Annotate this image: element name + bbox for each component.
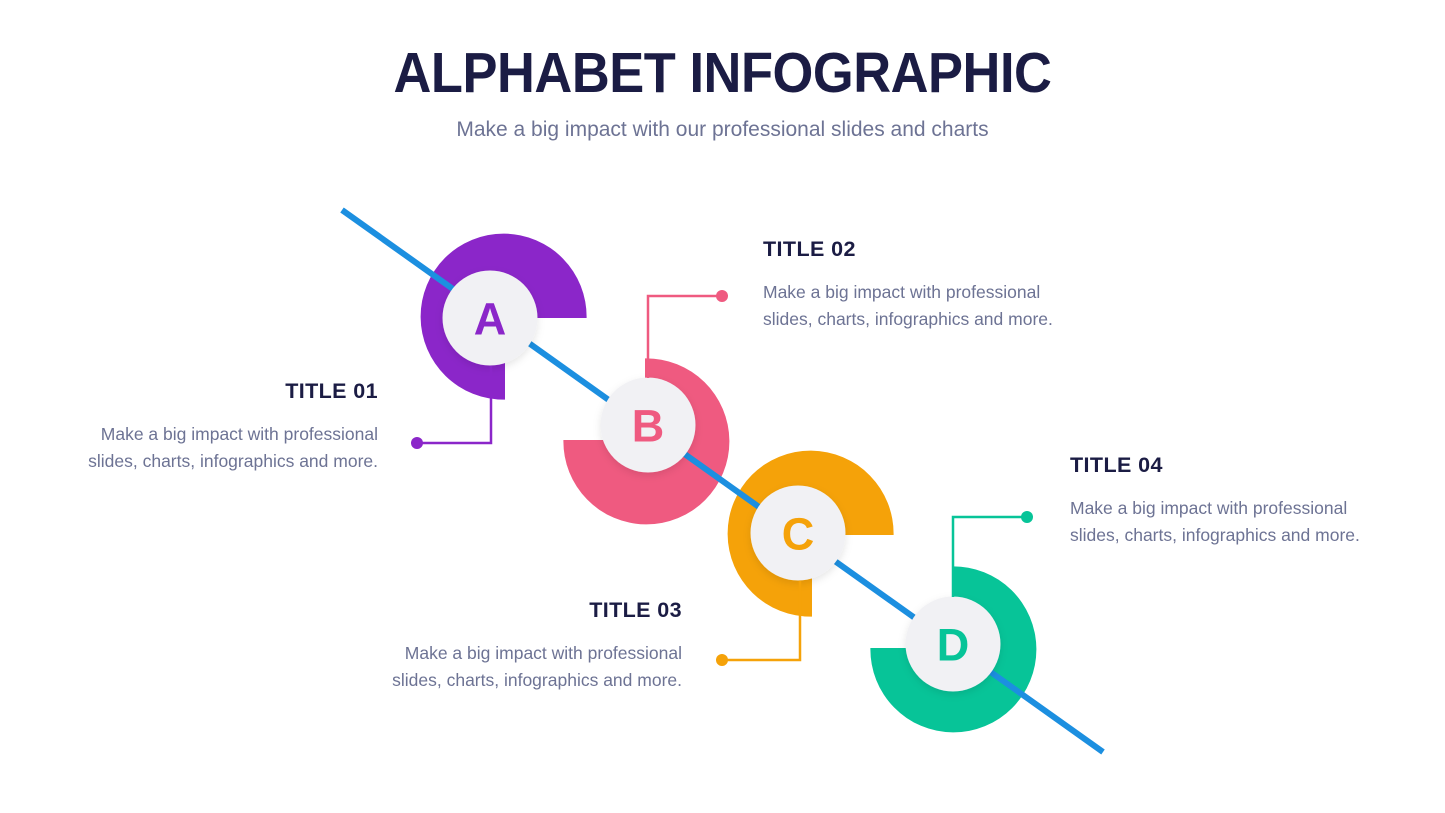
step-title-02: TITLE 02 (763, 237, 1063, 263)
connector-dot-03 (716, 654, 728, 666)
step-title-04: TITLE 04 (1070, 453, 1370, 479)
step-title-03: TITLE 03 (382, 598, 682, 624)
infographic-slide: ALPHABET INFOGRAPHIC Make a big impact w… (0, 0, 1445, 813)
connector-dot-04 (1021, 511, 1033, 523)
text-block-03: TITLE 03 Make a big impact with professi… (382, 598, 682, 694)
text-block-02: TITLE 02 Make a big impact with professi… (763, 237, 1063, 333)
text-block-01: TITLE 01 Make a big impact with professi… (78, 379, 378, 475)
step-body-04: Make a big impact with professional slid… (1070, 495, 1370, 549)
connector-dot-01 (411, 437, 423, 449)
text-block-04: TITLE 04 Make a big impact with professi… (1070, 453, 1370, 549)
connector-dot-02 (716, 290, 728, 302)
node-letter-d: D (905, 623, 1001, 668)
step-title-01: TITLE 01 (78, 379, 378, 405)
node-letter-a: A (442, 297, 538, 342)
step-body-02: Make a big impact with professional slid… (763, 279, 1063, 333)
step-body-03: Make a big impact with professional slid… (382, 640, 682, 694)
step-body-01: Make a big impact with professional slid… (78, 421, 378, 475)
node-letter-c: C (750, 512, 846, 557)
node-letter-b: B (600, 404, 696, 449)
